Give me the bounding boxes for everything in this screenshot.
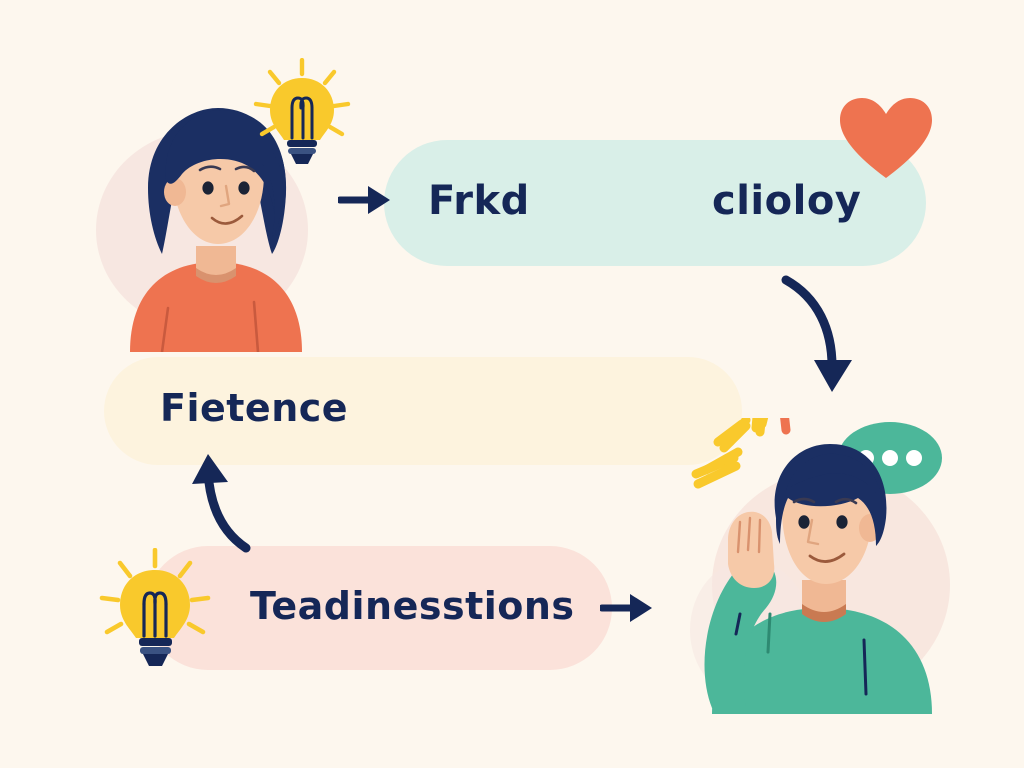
heart-icon xyxy=(838,96,934,180)
arrow-right-icon xyxy=(600,588,654,628)
arrow-curved-up-icon xyxy=(184,452,262,554)
arrow-curved-down-icon xyxy=(776,272,872,394)
node-label-teadinesstions: Teadinesstions xyxy=(250,584,575,628)
illustration-canvas: Frkd clioloy Fietence Teadinesstions xyxy=(0,0,1024,768)
node-label-clioloy: clioloy xyxy=(712,178,861,224)
man-illustration xyxy=(690,418,956,714)
lightbulb-icon xyxy=(96,548,214,674)
lightbulb-icon xyxy=(248,58,356,170)
node-label-fietence: Fietence xyxy=(160,386,348,430)
arrow-right-icon xyxy=(338,180,392,220)
node-label-frkd: Frkd xyxy=(428,178,530,224)
